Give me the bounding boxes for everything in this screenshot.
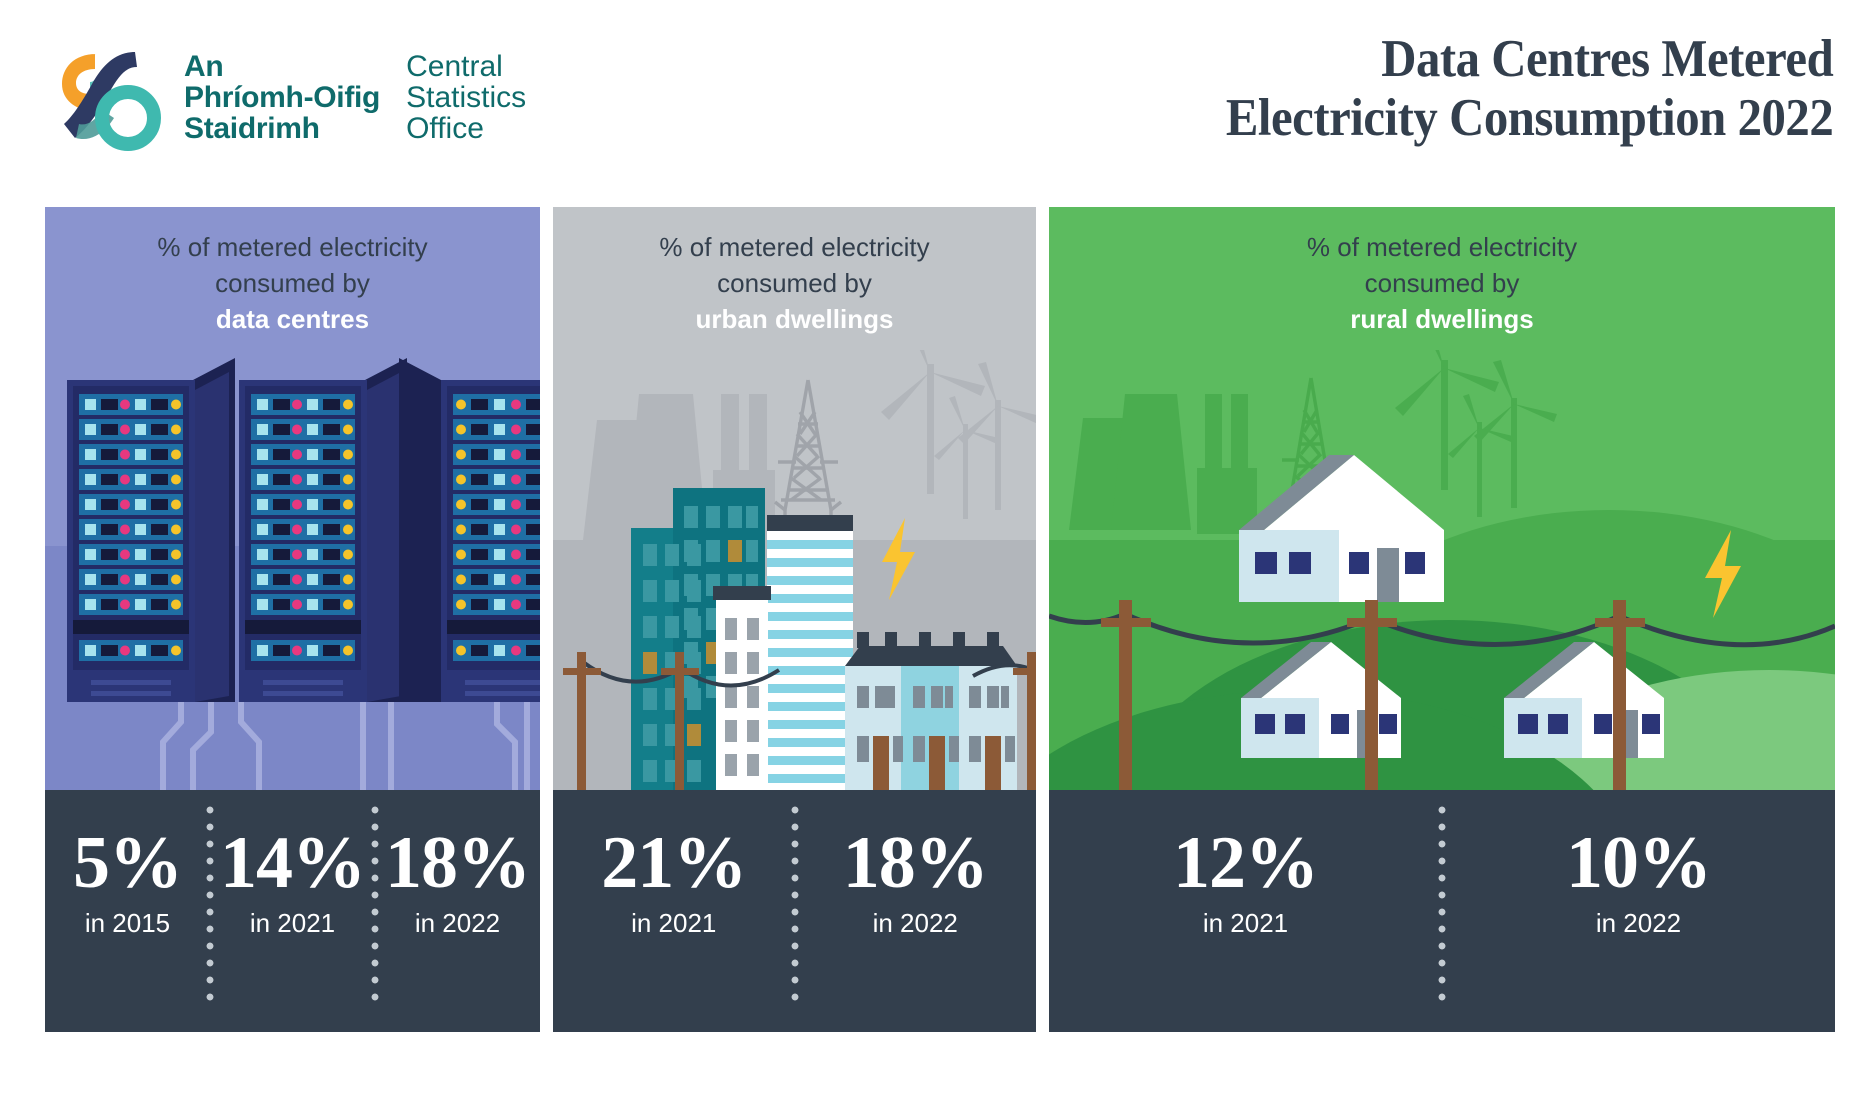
stat-year: in 2021	[1049, 908, 1442, 938]
countryside-houses-illustration	[1049, 337, 1835, 790]
stat-urban-2021: 21% in 2021	[553, 790, 795, 938]
stat-data-centres-2021: 14% in 2021	[210, 790, 375, 938]
stat-year: in 2022	[795, 908, 1037, 938]
cso-name-irish-line3: Staidrimh	[184, 113, 380, 144]
panel-data-centres-head-line2: consumed by	[215, 268, 370, 298]
panel-urban-dwellings-heading: % of metered electricity consumed by urb…	[553, 207, 1036, 337]
stat-rural-2021: 12% in 2021	[1049, 790, 1442, 938]
cso-name-english-line3: Office	[406, 113, 526, 144]
stat-value: 12%	[1049, 824, 1442, 902]
city-skyline-illustration	[553, 337, 1036, 790]
panel-data-centres-heading: % of metered electricity consumed by dat…	[45, 207, 540, 337]
stats-rural-dwellings: 12% in 2021 10% in 2022	[1049, 790, 1835, 1032]
stat-value: 18%	[375, 824, 540, 902]
panel-data-centres-head-line1: % of metered electricity	[157, 232, 427, 262]
panel-data-centres-emphasis: data centres	[45, 301, 540, 337]
cso-name-english: Central Statistics Office	[406, 51, 526, 144]
cso-name-irish-line1: An	[184, 51, 380, 82]
stat-value: 10%	[1442, 824, 1835, 902]
panel-rural-dwellings-heading: % of metered electricity consumed by rur…	[1049, 207, 1835, 337]
stat-rural-2022: 10% in 2022	[1442, 790, 1835, 938]
panel-urban-dwellings-emphasis: urban dwellings	[553, 301, 1036, 337]
stat-data-centres-2015: 5% in 2015	[45, 790, 210, 938]
cso-name-irish: An Phríomh-Oifig Staidrimh	[184, 51, 380, 144]
stats-data-centres: 5% in 2015 14% in 2021 18% in 2022	[45, 790, 540, 1032]
page-title-line2: Electricity Consumption 2022	[1226, 89, 1833, 148]
server-racks-illustration	[45, 337, 540, 790]
cso-logo: An Phríomh-Oifig Staidrimh Central Stati…	[52, 38, 526, 156]
stat-urban-2022: 18% in 2022	[795, 790, 1037, 938]
stat-year: in 2022	[1442, 908, 1835, 938]
stats-urban-dwellings: 21% in 2021 18% in 2022	[553, 790, 1036, 1032]
panel-urban-dwellings-head-line1: % of metered electricity	[659, 232, 929, 262]
panel-rural-dwellings: % of metered electricity consumed by rur…	[1049, 207, 1835, 1032]
stat-value: 21%	[553, 824, 795, 902]
panel-data-centres: % of metered electricity consumed by dat…	[45, 207, 540, 1032]
stat-value: 18%	[795, 824, 1037, 902]
panel-rural-dwellings-emphasis: rural dwellings	[1049, 301, 1835, 337]
panel-rural-dwellings-head-line1: % of metered electricity	[1307, 232, 1577, 262]
page-header: An Phríomh-Oifig Staidrimh Central Stati…	[0, 0, 1875, 207]
cso-name-english-line2: Statistics	[406, 82, 526, 113]
panel-row: % of metered electricity consumed by dat…	[45, 207, 1835, 1032]
cso-name-english-line1: Central	[406, 51, 526, 82]
stat-value: 14%	[210, 824, 375, 902]
stat-year: in 2015	[45, 908, 210, 938]
stat-data-centres-2022: 18% in 2022	[375, 790, 540, 938]
stat-value: 5%	[45, 824, 210, 902]
stat-year: in 2022	[375, 908, 540, 938]
stat-year: in 2021	[553, 908, 795, 938]
cso-infinity-logo-icon	[52, 38, 170, 156]
page-title: Data Centres Metered Electricity Consump…	[1226, 30, 1833, 148]
cso-name-irish-line2: Phríomh-Oifig	[184, 82, 380, 113]
page-title-line1: Data Centres Metered	[1226, 30, 1833, 89]
stat-year: in 2021	[210, 908, 375, 938]
panel-rural-dwellings-head-line2: consumed by	[1365, 268, 1520, 298]
panel-urban-dwellings-head-line2: consumed by	[717, 268, 872, 298]
panel-urban-dwellings: % of metered electricity consumed by urb…	[553, 207, 1036, 1032]
